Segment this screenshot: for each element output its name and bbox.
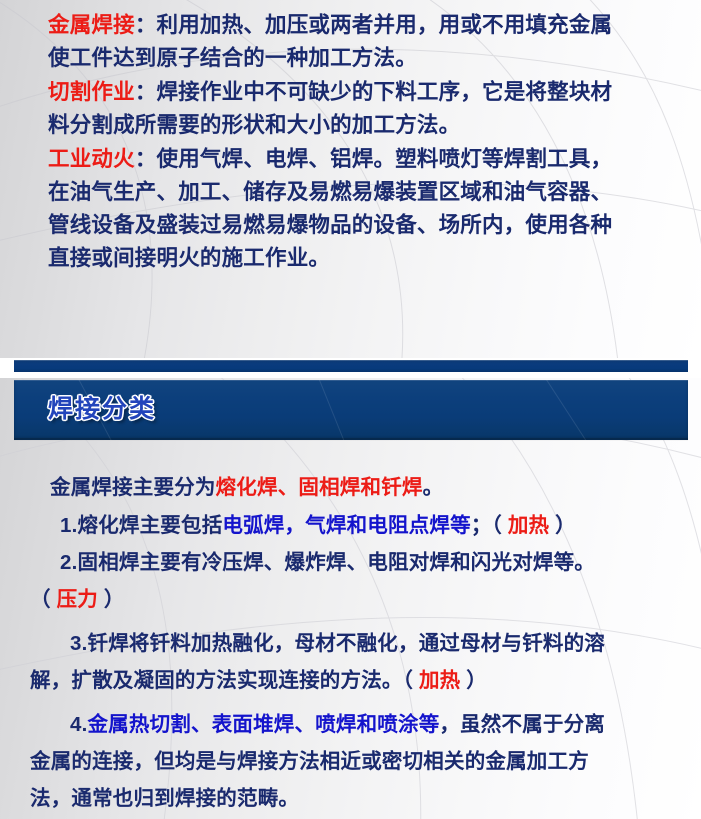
item-text: ） (98, 588, 125, 611)
item-number: 4. (70, 713, 88, 736)
section-title-bar: 焊接分类 (14, 380, 688, 440)
definition-text: 管线设备及盛装过易燃易爆物品的设备、场所内，使用各种 (48, 213, 612, 237)
definition-line: 金属焊接：利用加热、加压或两者并用，用或不用填充金属 (48, 8, 612, 39)
classification-item-3-wrap: 解，扩散及凝固的方法实现连接的方法。（ 加热 ） (30, 663, 487, 693)
definition-line: 管线设备及盛装过易燃易爆物品的设备、场所内，使用各种 (48, 208, 612, 239)
item-number: 3. (70, 632, 88, 655)
definition-text: 在油气生产、加工、储存及易燃易爆装置区域和油气容器、 (48, 180, 612, 204)
item-number: 2. (60, 551, 78, 574)
colon: ： (135, 147, 157, 171)
colon: ： (135, 80, 157, 104)
item-highlight: 金属热切割、表面堆焊、喷焊和喷涂等 (88, 713, 440, 736)
intro-highlight: 熔化焊、固相焊和钎焊 (216, 476, 423, 499)
item-keyword-heat: 加热 (419, 669, 460, 692)
intro-lead: 金属焊接主要分为 (50, 476, 216, 499)
classification-item-4-wrap-1: 金属的连接，但均是与焊接方法相近或密切相关的金属加工方 (30, 744, 589, 774)
definition-text: 使工件达到原子结合的一种加工方法。 (48, 46, 417, 70)
item-text: ） (460, 669, 487, 692)
definition-line: 料分割成所需要的形状和大小的加工方法。 (48, 108, 460, 139)
section-title: 焊接分类 (48, 389, 156, 425)
item-text: 解，扩散及凝固的方法实现连接的方法。（ (30, 669, 419, 692)
item-text: 法，通常也归到焊接的范畴。 (30, 787, 299, 810)
slide-separator-bar (14, 360, 688, 372)
classification-intro-line: 金属焊接主要分为熔化焊、固相焊和钎焊。 (50, 470, 443, 500)
definition-text: 料分割成所需要的形状和大小的加工方法。 (48, 113, 460, 137)
item-text: ；（ (471, 514, 508, 537)
term-cutting-operation: 切割作业 (48, 80, 135, 104)
title-bar-decoration (534, 380, 627, 440)
classification-item-2: 2.固相焊主要有冷压焊、爆炸焊、电阻对焊和闪光对焊等。 (60, 545, 595, 575)
item-highlight: 电弧焊，气焊和电阻点焊等 (222, 514, 470, 537)
item-text: 固相焊主要有冷压焊、爆炸焊、电阻对焊和闪光对焊等。 (78, 551, 596, 574)
definition-line: 在油气生产、加工、储存及易燃易爆装置区域和油气容器、 (48, 175, 612, 206)
item-text: ） (549, 514, 576, 537)
classification-item-4: 4.金属热切割、表面堆焊、喷焊和喷涂等，虽然不属于分离 (70, 707, 605, 737)
item-keyword-heat: 加热 (508, 514, 549, 537)
definition-text: 利用加热、加压或两者并用，用或不用填充金属 (157, 13, 613, 37)
item-text: 熔化焊主要包括 (78, 514, 223, 537)
colon: ： (135, 13, 157, 37)
item-text: 金属的连接，但均是与焊接方法相近或密切相关的金属加工方 (30, 750, 589, 773)
title-bar-decoration (314, 380, 367, 440)
classification-item-3: 3.钎焊将钎料加热融化，母材不融化，通过母材与钎料的溶 (70, 626, 605, 656)
item-keyword-pressure: 压力 (57, 588, 98, 611)
intro-tail: 。 (423, 476, 444, 499)
term-metal-welding: 金属焊接 (48, 13, 135, 37)
definition-text: 直接或间接明火的施工作业。 (48, 246, 330, 270)
item-number: 1. (60, 514, 78, 537)
item-text: （ (30, 588, 57, 611)
definition-text: 使用气焊、电焊、铝焊。塑料喷灯等焊割工具， (157, 147, 613, 171)
definition-line: 直接或间接明火的施工作业。 (48, 241, 330, 272)
term-industrial-hot-work: 工业动火 (48, 147, 135, 171)
welding-classification-slide: 金属焊接主要分为熔化焊、固相焊和钎焊。 1.熔化焊主要包括电弧焊，气焊和电阻点焊… (0, 378, 701, 819)
definitions-slide: 金属焊接：利用加热、加压或两者并用，用或不用填充金属 使工件达到原子结合的一种加… (0, 0, 701, 358)
definition-line: 工业动火：使用气焊、电焊、铝焊。塑料喷灯等焊割工具， (48, 142, 612, 173)
definition-text: 焊接作业中不可缺少的下料工序，它是将整块材 (157, 80, 613, 104)
definition-line: 切割作业：焊接作业中不可缺少的下料工序，它是将整块材 (48, 75, 612, 106)
item-text: 钎焊将钎料加热融化，母材不融化，通过母材与钎料的溶 (88, 632, 606, 655)
item-text: ，虽然不属于分离 (439, 713, 605, 736)
classification-item-4-wrap-2: 法，通常也归到焊接的范畴。 (30, 781, 299, 811)
classification-item-1: 1.熔化焊主要包括电弧焊，气焊和电阻点焊等；（ 加热 ） (60, 508, 576, 538)
slide-page: 金属焊接：利用加热、加压或两者并用，用或不用填充金属 使工件达到原子结合的一种加… (0, 0, 701, 819)
classification-item-2-wrap: （ 压力 ） (30, 582, 125, 612)
definition-line: 使工件达到原子结合的一种加工方法。 (48, 41, 417, 72)
